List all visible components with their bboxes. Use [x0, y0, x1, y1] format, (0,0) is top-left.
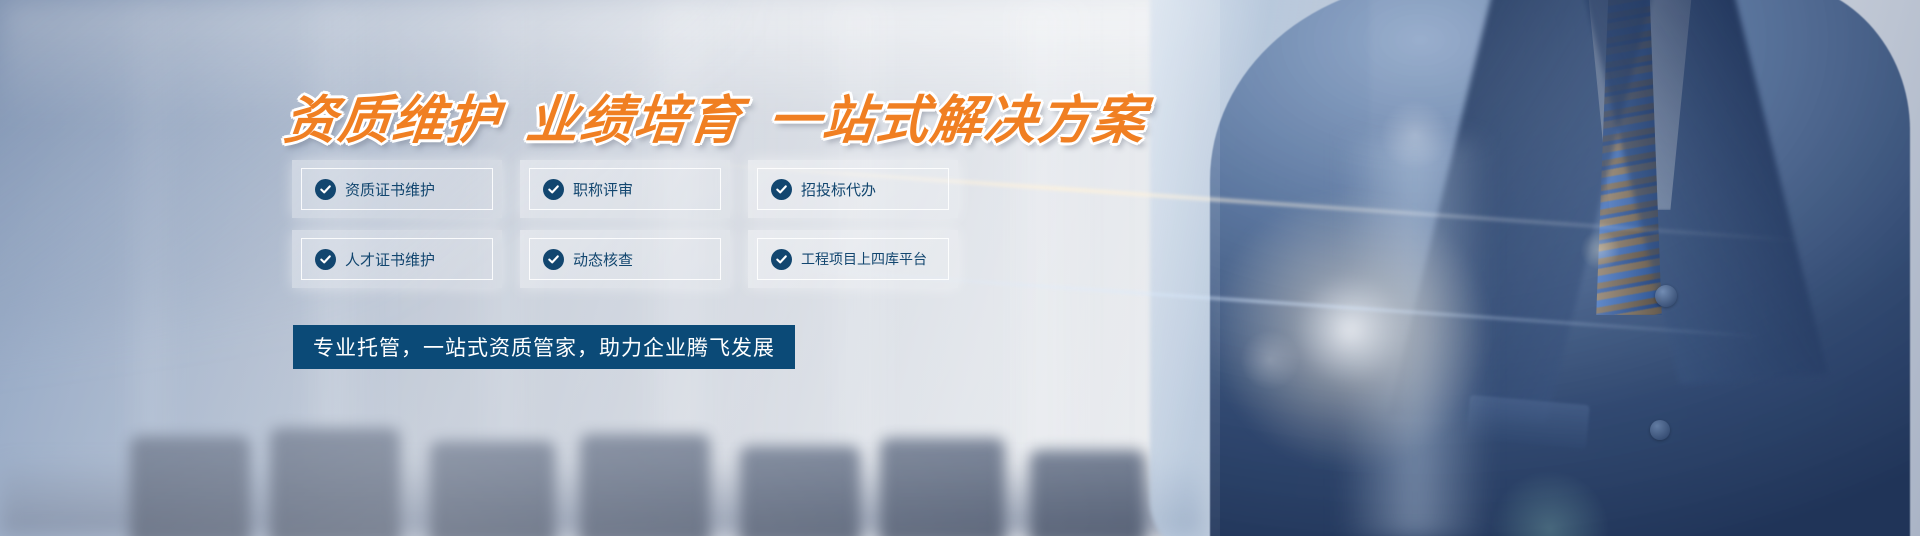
feature-grid: 资质证书维护 职称评审 招投标代办 [292, 160, 958, 288]
headline-part-1: 资质维护 [281, 91, 503, 151]
feature-item-inner: 动态核查 [529, 238, 721, 280]
feature-item-talent-certificate-maintenance[interactable]: 人才证书维护 [292, 230, 502, 288]
suit-button-top [1655, 285, 1677, 307]
feature-item-inner: 资质证书维护 [301, 168, 493, 210]
tagline-bar: 专业托管，一站式资质管家，助力企业腾飞发展 [293, 325, 795, 369]
feature-label: 招投标代办 [801, 179, 876, 200]
feature-item-qualification-certificate-maintenance[interactable]: 资质证书维护 [292, 160, 502, 218]
feature-item-title-evaluation[interactable]: 职称评审 [520, 160, 730, 218]
feature-label: 职称评审 [573, 179, 633, 200]
check-circle-icon [543, 179, 564, 200]
feature-item-inner: 招投标代办 [757, 168, 949, 210]
check-circle-icon [315, 249, 336, 270]
headline-part-2: 业绩培育 [523, 91, 745, 151]
feature-label: 资质证书维护 [345, 179, 435, 200]
feature-item-bidding-agency[interactable]: 招投标代办 [748, 160, 958, 218]
arm-highlight [1340, 140, 1490, 536]
check-circle-icon [315, 179, 336, 200]
hero-banner: 资质维护业绩培育一站式解决方案 资质证书维护 职称评审 [0, 0, 1920, 536]
businessman-photo [1090, 0, 1920, 536]
banner-headline: 资质维护业绩培育一站式解决方案 [281, 78, 1151, 153]
banner-content: 资质维护业绩培育一站式解决方案 资质证书维护 职称评审 [0, 0, 1100, 536]
headline-part-3: 一站式解决方案 [765, 91, 1149, 151]
feature-item-inner: 职称评审 [529, 168, 721, 210]
feature-item-dynamic-verification[interactable]: 动态核查 [520, 230, 730, 288]
suit-button-bottom [1650, 420, 1670, 440]
check-circle-icon [543, 249, 564, 270]
feature-label: 人才证书维护 [345, 249, 435, 270]
feature-item-inner: 工程项目上四库平台 [757, 238, 949, 280]
feature-label: 工程项目上四库平台 [801, 249, 927, 269]
tagline-text: 专业托管，一站式资质管家，助力企业腾飞发展 [313, 332, 775, 362]
feature-item-inner: 人才证书维护 [301, 238, 493, 280]
feature-label: 动态核查 [573, 249, 633, 270]
feature-item-project-four-database-platform[interactable]: 工程项目上四库平台 [748, 230, 958, 288]
check-circle-icon [771, 249, 792, 270]
check-circle-icon [771, 179, 792, 200]
